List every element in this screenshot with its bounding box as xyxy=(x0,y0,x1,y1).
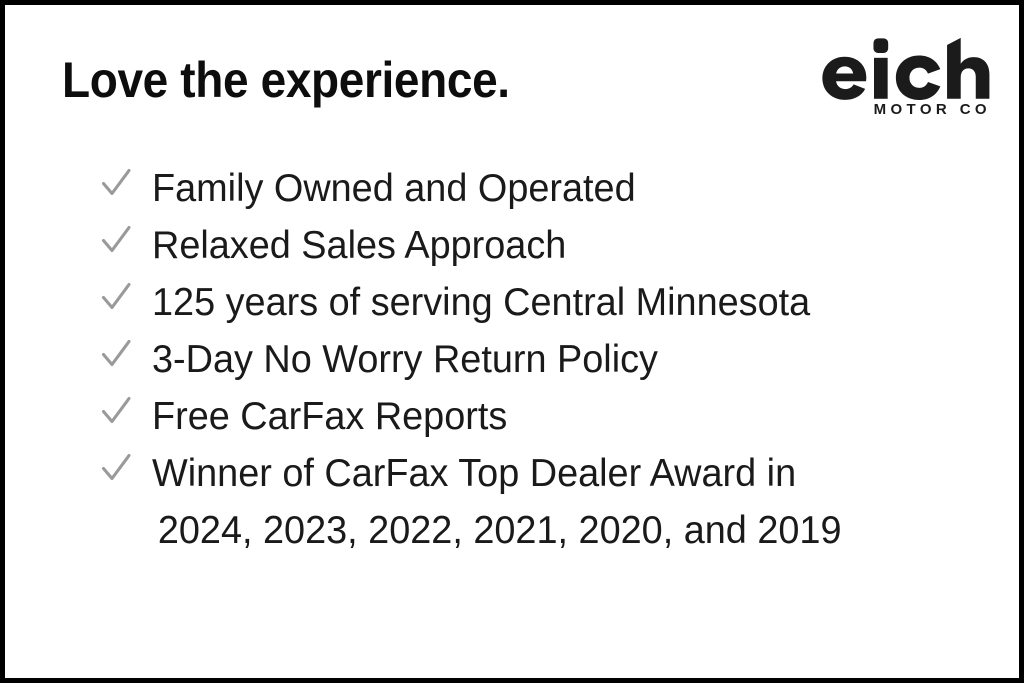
promo-card: Love the experience. MOTOR CO xyxy=(0,0,1024,683)
benefits-list: Family Owned and Operated Relaxed Sales … xyxy=(5,160,1019,559)
checkmark-icon xyxy=(101,337,131,371)
list-item-continuation: 2024, 2023, 2022, 2021, 2020, and 2019 xyxy=(152,502,842,559)
checkmark-icon xyxy=(101,280,131,314)
brand-tagline: MOTOR CO xyxy=(818,102,993,117)
list-item: 125 years of serving Central Minnesota xyxy=(5,274,1019,331)
list-item: Relaxed Sales Approach xyxy=(5,217,1019,274)
checkmark-icon xyxy=(101,166,131,200)
list-item-text: Relaxed Sales Approach xyxy=(152,224,566,267)
list-item-label: Free CarFax Reports xyxy=(152,388,507,445)
list-item: Winner of CarFax Top Dealer Award in 202… xyxy=(5,445,1019,559)
page-title: Love the experience. xyxy=(62,55,510,105)
list-item: Free CarFax Reports xyxy=(5,388,1019,445)
list-item-label: 125 years of serving Central Minnesota xyxy=(152,274,810,331)
list-item-text: 3-Day No Worry Return Policy xyxy=(152,338,658,381)
checkmark-icon xyxy=(101,223,131,257)
checkmark-icon xyxy=(101,394,131,428)
checkmark-icon xyxy=(101,451,131,485)
list-item-text: Family Owned and Operated xyxy=(152,167,636,210)
list-item-label: Winner of CarFax Top Dealer Award in 202… xyxy=(152,445,842,559)
eich-wordmark-icon xyxy=(818,37,993,100)
list-item: Family Owned and Operated xyxy=(5,160,1019,217)
list-item-text: Winner of CarFax Top Dealer Award in xyxy=(152,452,796,495)
list-item-text: Free CarFax Reports xyxy=(152,395,507,438)
list-item: 3-Day No Worry Return Policy xyxy=(5,331,1019,388)
brand-logo: MOTOR CO xyxy=(818,37,993,117)
list-item-label: Family Owned and Operated xyxy=(152,160,636,217)
list-item-label: 3-Day No Worry Return Policy xyxy=(152,331,658,388)
card-header: Love the experience. MOTOR CO xyxy=(5,5,1019,145)
list-item-label: Relaxed Sales Approach xyxy=(152,217,566,274)
list-item-text: 125 years of serving Central Minnesota xyxy=(152,281,810,324)
